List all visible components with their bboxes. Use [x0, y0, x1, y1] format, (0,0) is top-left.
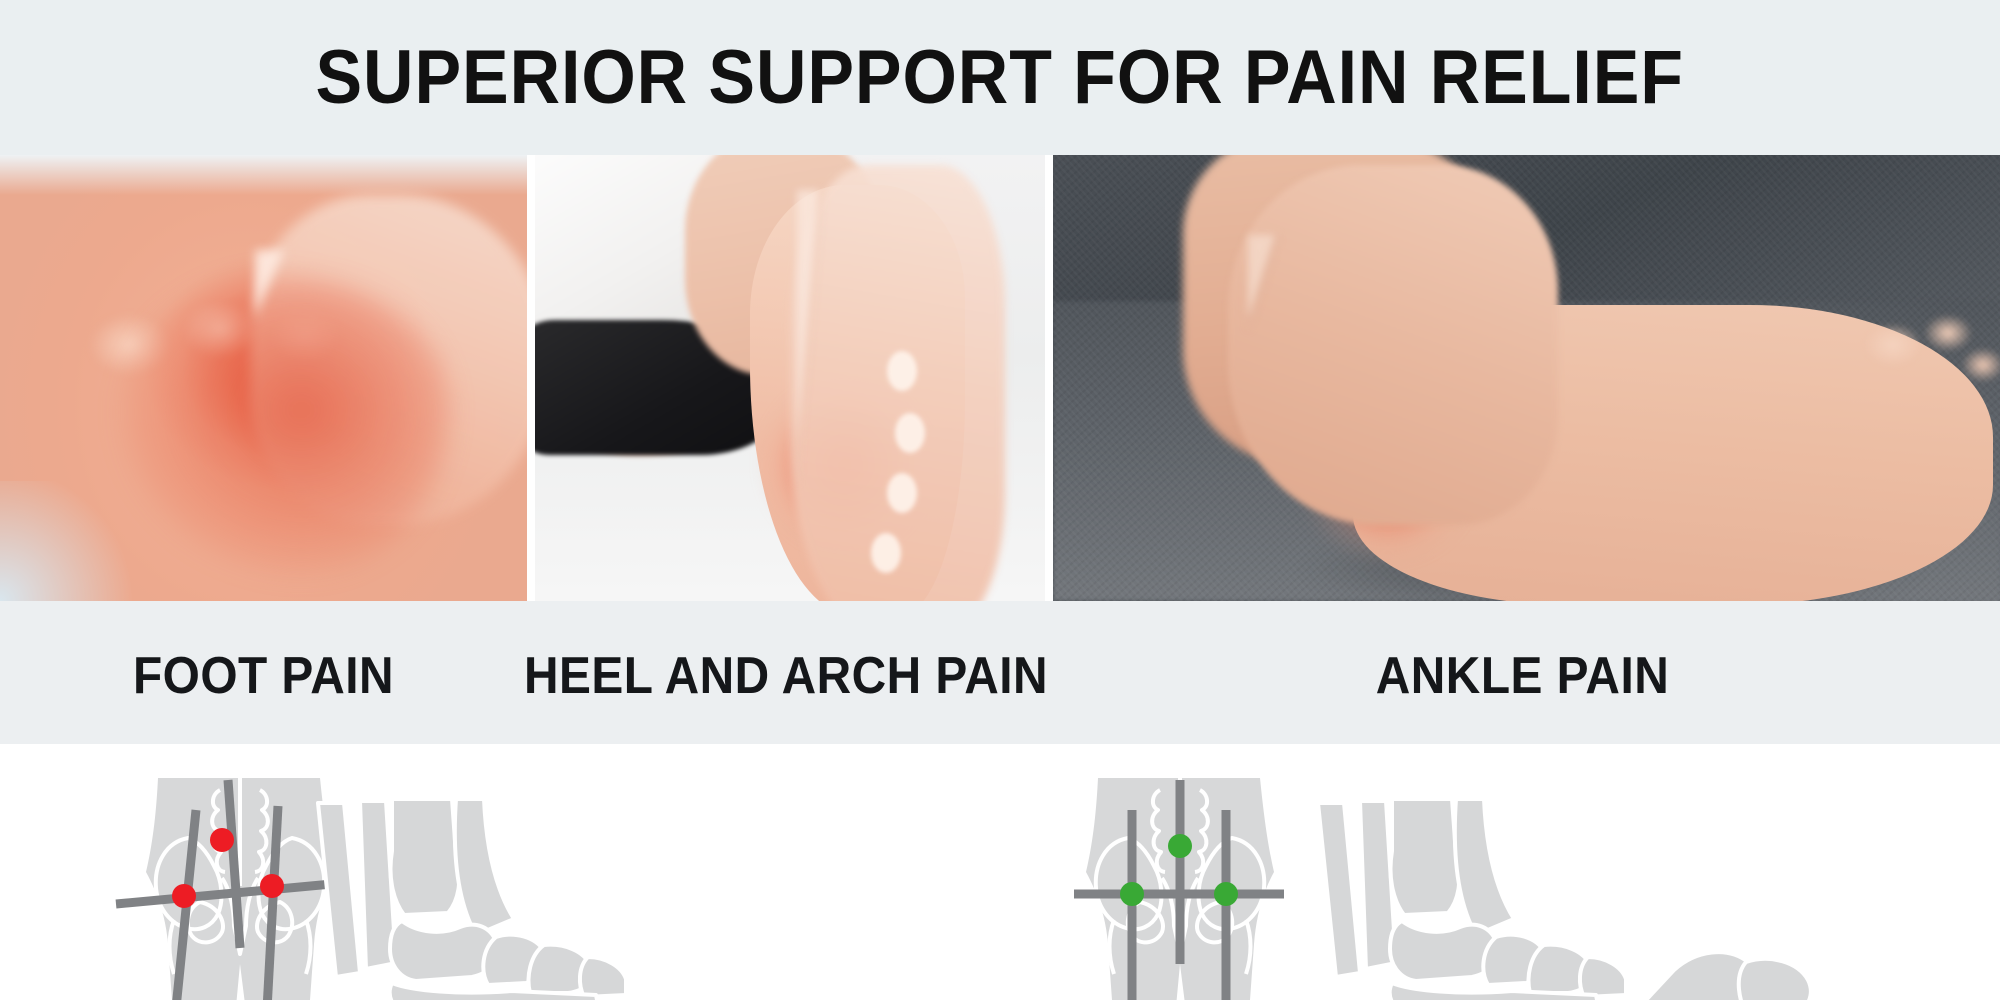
fingernail-shape	[895, 413, 925, 453]
marker-dot	[1168, 834, 1192, 858]
fingernail-shape	[871, 533, 901, 573]
ankle-pain-photo	[1053, 155, 2000, 601]
talus-bone	[1390, 921, 1498, 981]
foot-bones	[318, 799, 626, 1000]
panel-divider	[1045, 155, 1053, 601]
photo-corner-fade	[0, 481, 140, 601]
foot-pain-photo	[0, 155, 527, 601]
caption-ankle-pain: ANKLE PAIN	[1083, 650, 1962, 702]
talus-bone	[390, 921, 498, 981]
marker-dot	[260, 874, 284, 898]
toes-shape	[1853, 305, 2000, 475]
fingers-shape	[255, 250, 505, 500]
panel-divider	[527, 155, 535, 601]
marker-dot	[1214, 882, 1238, 906]
caption-foot-pain: FOOT PAIN	[21, 650, 506, 702]
ankle-skeleton-right	[1300, 795, 1630, 1000]
midfoot-bone	[1739, 959, 1811, 1000]
page-title: SUPERIOR SUPPORT FOR PAIN RELIEF	[316, 40, 1684, 116]
caption-band: FOOT PAIN HEEL AND ARCH PAIN ANKLE PAIN	[0, 601, 2000, 750]
foot-bones	[1318, 799, 1626, 1000]
photo-panel-ankle-pain	[1053, 155, 2000, 601]
marker-dot	[172, 884, 196, 908]
metatarsal-bone	[580, 957, 626, 997]
tibia-bone	[1391, 799, 1460, 915]
alignment-diagram-row	[0, 750, 2000, 1000]
photo-top-fade	[0, 155, 527, 195]
fingernail-shape	[887, 351, 917, 391]
fingers-shape	[1248, 235, 1548, 525]
ankle-skeleton-left	[300, 795, 630, 1000]
marker-dot	[210, 828, 234, 852]
fibula-bone	[1318, 803, 1360, 977]
fingernail-shape	[887, 473, 917, 513]
promo-banner: SUPERIOR SUPPORT FOR PAIN RELIEF	[0, 0, 2000, 1000]
header-band: SUPERIOR SUPPORT FOR PAIN RELIEF	[0, 0, 2000, 155]
corner-foot-graphic	[1620, 910, 2000, 1000]
fibula-bone	[318, 803, 360, 977]
calcaneus-upper-bone	[455, 799, 514, 935]
tibia-bone	[391, 799, 460, 915]
photo-strip	[0, 155, 2000, 601]
calcaneus-upper-bone	[1455, 799, 1514, 935]
foot-bones-partial	[1620, 952, 1811, 1000]
caption-heel-and-arch-pain: HEEL AND ARCH PAIN	[548, 650, 1025, 702]
heel-pain-photo	[535, 155, 1045, 601]
pelvis-aligned-diagram	[1028, 768, 1328, 1000]
marker-dot	[1120, 882, 1144, 906]
photo-panel-heel-and-arch-pain	[535, 155, 1045, 601]
photo-panel-foot-pain	[0, 155, 527, 601]
